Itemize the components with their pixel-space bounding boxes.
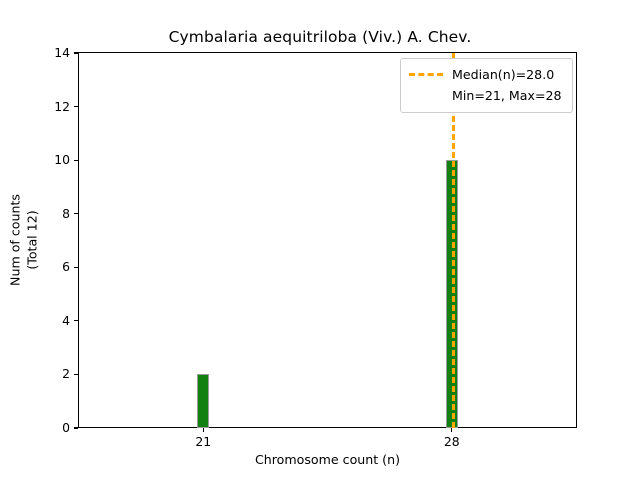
chart-figure: Cymbalaria aequitriloba (Viv.) A. Chev. … bbox=[0, 0, 640, 480]
legend-label-median: Median(n)=28.0 bbox=[452, 67, 554, 82]
y-tick-label: 14 bbox=[54, 44, 70, 62]
y-tick-label: 2 bbox=[62, 365, 70, 383]
y-tick-label: 4 bbox=[62, 312, 70, 330]
x-tick-label: 21 bbox=[179, 434, 227, 449]
x-tick-label: 28 bbox=[428, 434, 476, 449]
legend-item-median: Median(n)=28.0 bbox=[409, 64, 564, 85]
y-tick-label: 8 bbox=[62, 205, 70, 223]
legend-item-minmax: Min=21, Max=28 bbox=[409, 85, 564, 106]
chart-legend: Median(n)=28.0 Min=21, Max=28 bbox=[400, 58, 573, 113]
legend-label-minmax: Min=21, Max=28 bbox=[452, 88, 562, 103]
y-axis-label-subtitle: (Total 12) bbox=[25, 210, 40, 269]
y-axis-label: Num of counts bbox=[8, 194, 23, 286]
y-tick-label: 10 bbox=[54, 151, 70, 169]
x-tick-mark bbox=[203, 428, 204, 432]
x-tick-mark bbox=[451, 428, 452, 432]
chart-title: Cymbalaria aequitriloba (Viv.) A. Chev. bbox=[0, 28, 640, 46]
y-tick-label: 0 bbox=[62, 419, 70, 437]
y-axis-label-group: Num of counts (Total 12) bbox=[0, 52, 46, 428]
x-axis-label: Chromosome count (n) bbox=[78, 452, 577, 467]
dashed-line-icon bbox=[409, 73, 443, 76]
bar bbox=[197, 374, 209, 428]
y-tick-label: 12 bbox=[54, 98, 70, 116]
y-tick-label: 6 bbox=[62, 258, 70, 276]
